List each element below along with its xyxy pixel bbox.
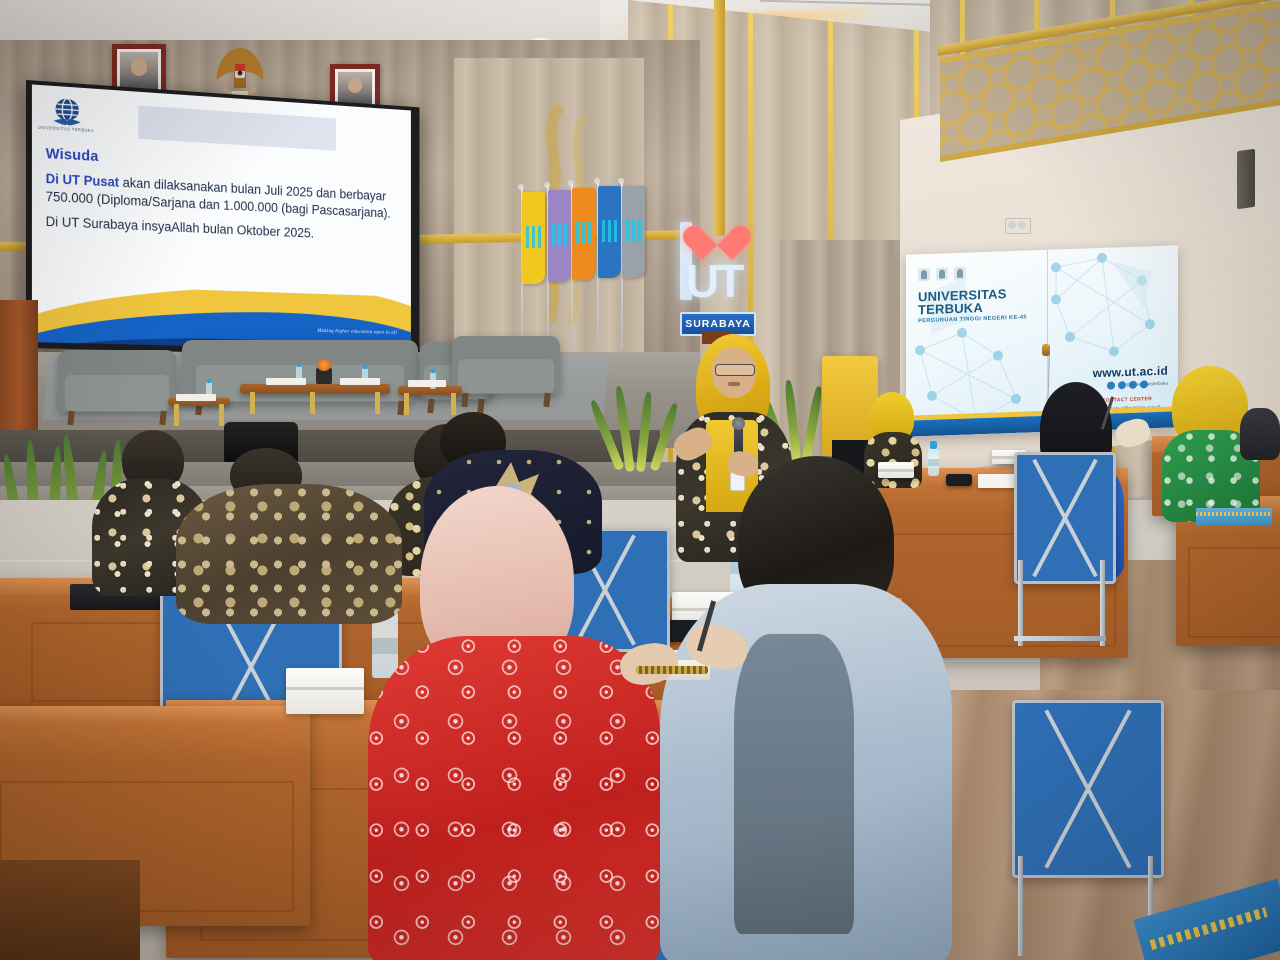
snack-box: [286, 668, 364, 714]
desk-side-panel: [0, 860, 140, 960]
flag-purple: [548, 190, 571, 282]
banner-title: UNIVERSITAS TERBUKA: [918, 287, 1007, 317]
seal-icon: [918, 268, 930, 281]
banner-website: www.ut.ac.id: [1093, 364, 1168, 381]
coffee-table: [240, 384, 390, 394]
seminar-hall-photo: UNIVERSITAS TERBUKA Wisuda Di UT Pusat a…: [0, 0, 1280, 960]
stage-sofa: [58, 350, 176, 412]
banner-accreditation-icons: [918, 267, 966, 282]
inner-top: [734, 634, 854, 934]
chair: [1012, 700, 1164, 878]
napkin-tray: [266, 378, 306, 385]
blue-booklet: [1196, 508, 1272, 526]
flower-arrangement: [316, 368, 332, 384]
attendee-gray-cardigan: [660, 456, 960, 960]
heart-icon: [696, 212, 738, 252]
wall-speaker-icon: [1237, 149, 1255, 210]
napkin-tray: [408, 380, 446, 387]
surabaya-plaque-label: SURABAYA: [685, 318, 751, 330]
flag-blue: [598, 186, 621, 278]
attendee-hijab-peach: [368, 486, 668, 960]
rose-batik-outfit: [368, 636, 660, 960]
microphone-stand-head: [1042, 344, 1050, 356]
letters-ut: UT: [686, 258, 741, 304]
spiral-binding: [636, 666, 708, 674]
chair-leg: [1018, 856, 1023, 956]
chair-stretcher: [1014, 636, 1106, 641]
chair-leg: [1018, 560, 1023, 646]
institution-icon: [936, 267, 948, 280]
notebook: [978, 474, 1016, 488]
emergency-light-icon: [1005, 218, 1031, 234]
presentation-slide: UNIVERSITAS TERBUKA Wisuda Di UT Pusat a…: [32, 84, 411, 351]
slide-body: Wisuda Di UT Pusat akan dilaksanakan bul…: [46, 145, 404, 252]
flag-row: [508, 186, 658, 356]
flag-gray: [622, 186, 645, 278]
napkin-tray: [176, 394, 216, 401]
attendee-far-right: [1240, 408, 1280, 460]
mouth: [728, 382, 740, 386]
napkin-tray: [340, 378, 380, 385]
flag-orange: [572, 188, 595, 280]
flag-yellow: [522, 192, 545, 284]
chair-leg: [1100, 560, 1105, 646]
stage-sofa: [452, 336, 560, 394]
gold-column: [714, 0, 725, 236]
certification-icon: [954, 267, 966, 280]
eyeglasses: [715, 364, 755, 376]
i-love-ut-sign: UT SURABAYA: [672, 206, 752, 326]
slide-title-placeholder: [138, 105, 336, 150]
slide-bold-phrase: Di UT Pusat: [46, 171, 119, 190]
projection-screen: UNIVERSITAS TERBUKA Wisuda Di UT Pusat a…: [26, 80, 419, 357]
